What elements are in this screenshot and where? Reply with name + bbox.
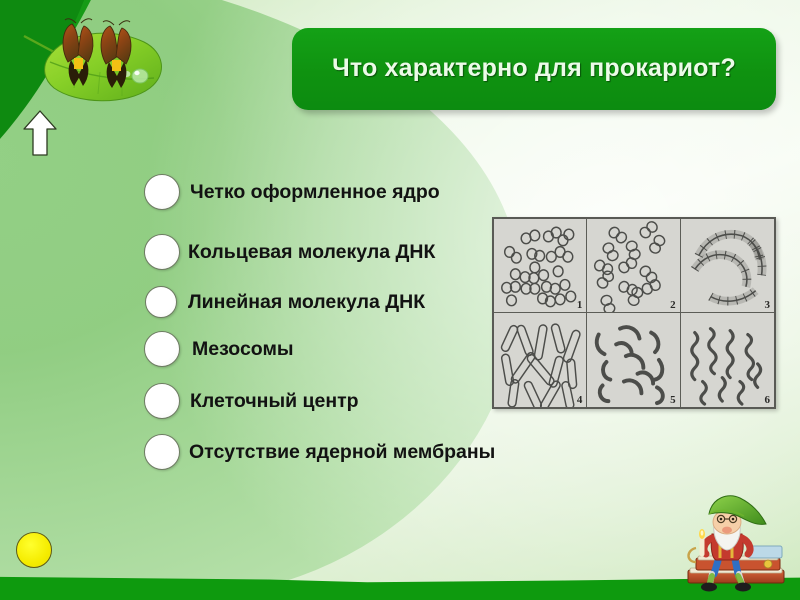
up-arrow-icon[interactable] [20, 108, 60, 158]
answer-option-3[interactable]: Линейная молекула ДНК [145, 282, 425, 322]
bacteria-cell-6: 6 [681, 313, 774, 407]
page-title: Что характерно для прокариот? [332, 54, 736, 84]
radio-circle-icon[interactable] [144, 331, 180, 367]
radio-circle-icon[interactable] [144, 434, 180, 470]
answer-option-6[interactable]: Отсутствие ядерной мембраны [144, 432, 495, 472]
question-title-banner: Что характерно для прокариот? [292, 28, 776, 110]
answer-option-2[interactable]: Кольцевая молекула ДНК [144, 232, 435, 272]
answer-option-label: Отсутствие ядерной мембраны [189, 441, 495, 464]
radio-circle-icon[interactable] [144, 174, 180, 210]
figure-cell-number: 5 [670, 394, 676, 406]
gnome-reading-on-books-image [676, 492, 792, 596]
figure-cell-number: 2 [670, 299, 676, 311]
answer-option-4[interactable]: Мезосомы [144, 329, 294, 369]
butterflies-on-leaf-image [18, 12, 174, 112]
answer-option-label: Мезосомы [192, 338, 294, 361]
answer-option-label: Четко оформленное ядро [190, 181, 440, 204]
bacteria-cell-1: 1 [494, 219, 587, 313]
bacteria-cell-5: 5 [587, 313, 680, 407]
answer-option-label: Линейная молекула ДНК [188, 291, 425, 314]
radio-circle-icon[interactable] [144, 234, 180, 270]
figure-cell-number: 6 [765, 394, 771, 406]
bacteria-cell-2: 2 [587, 219, 680, 313]
answer-option-5[interactable]: Клеточный центр [144, 381, 359, 421]
radio-circle-icon[interactable] [145, 286, 177, 318]
yellow-circle-button[interactable] [16, 532, 52, 568]
bacteria-cell-3: 3 [681, 219, 774, 313]
figure-cell-number: 3 [765, 299, 771, 311]
answer-option-label: Клеточный центр [190, 390, 359, 413]
bacteria-cell-4: 4 [494, 313, 587, 407]
answer-option-1[interactable]: Четко оформленное ядро [144, 172, 440, 212]
bacteria-morphology-grid: 1 2 [492, 217, 776, 409]
answer-option-label: Кольцевая молекула ДНК [188, 241, 435, 264]
figure-cell-number: 1 [577, 299, 583, 311]
radio-circle-icon[interactable] [144, 383, 180, 419]
slide-canvas: Что характерно для прокариот? Четко офор… [0, 0, 800, 600]
figure-cell-number: 4 [577, 394, 583, 406]
